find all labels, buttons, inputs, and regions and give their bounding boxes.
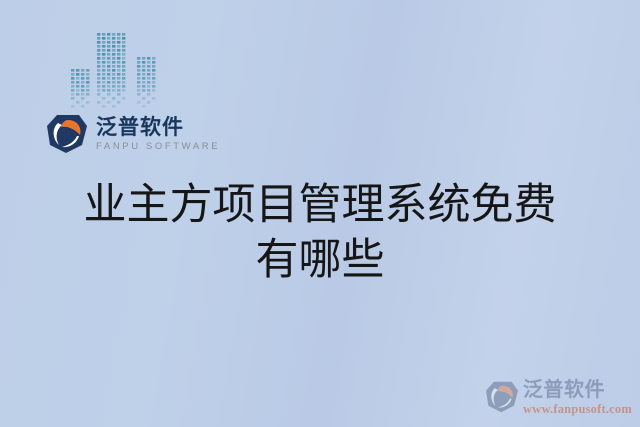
page-title: 业主方项目管理系统免费 有哪些 (0, 178, 640, 288)
page-title-line-2: 有哪些 (0, 233, 640, 288)
poster-canvas: 泛普软件 FANPU SOFTWARE 业主方项目管理系统免费 有哪些 泛普软件… (0, 0, 640, 427)
fanpu-hexagon-logo-icon (46, 114, 88, 154)
brand-name-cn: 泛普软件 (96, 117, 220, 138)
watermark: 泛普软件 www.fanpusoft.com (485, 380, 632, 416)
brand-text: 泛普软件 FANPU SOFTWARE (96, 117, 220, 152)
brand-lockup: 泛普软件 FANPU SOFTWARE (46, 114, 220, 154)
watermark-text: 泛普软件 www.fanpusoft.com (523, 380, 632, 416)
brand-name-en: FANPU SOFTWARE (96, 142, 220, 152)
page-title-line-1: 业主方项目管理系统免费 (0, 178, 640, 233)
watermark-url: www.fanpusoft.com (523, 403, 632, 416)
watermark-name-cn: 泛普软件 (523, 380, 632, 400)
fanpu-hexagon-logo-icon (485, 381, 519, 413)
pixel-skyline-icon (70, 28, 162, 112)
